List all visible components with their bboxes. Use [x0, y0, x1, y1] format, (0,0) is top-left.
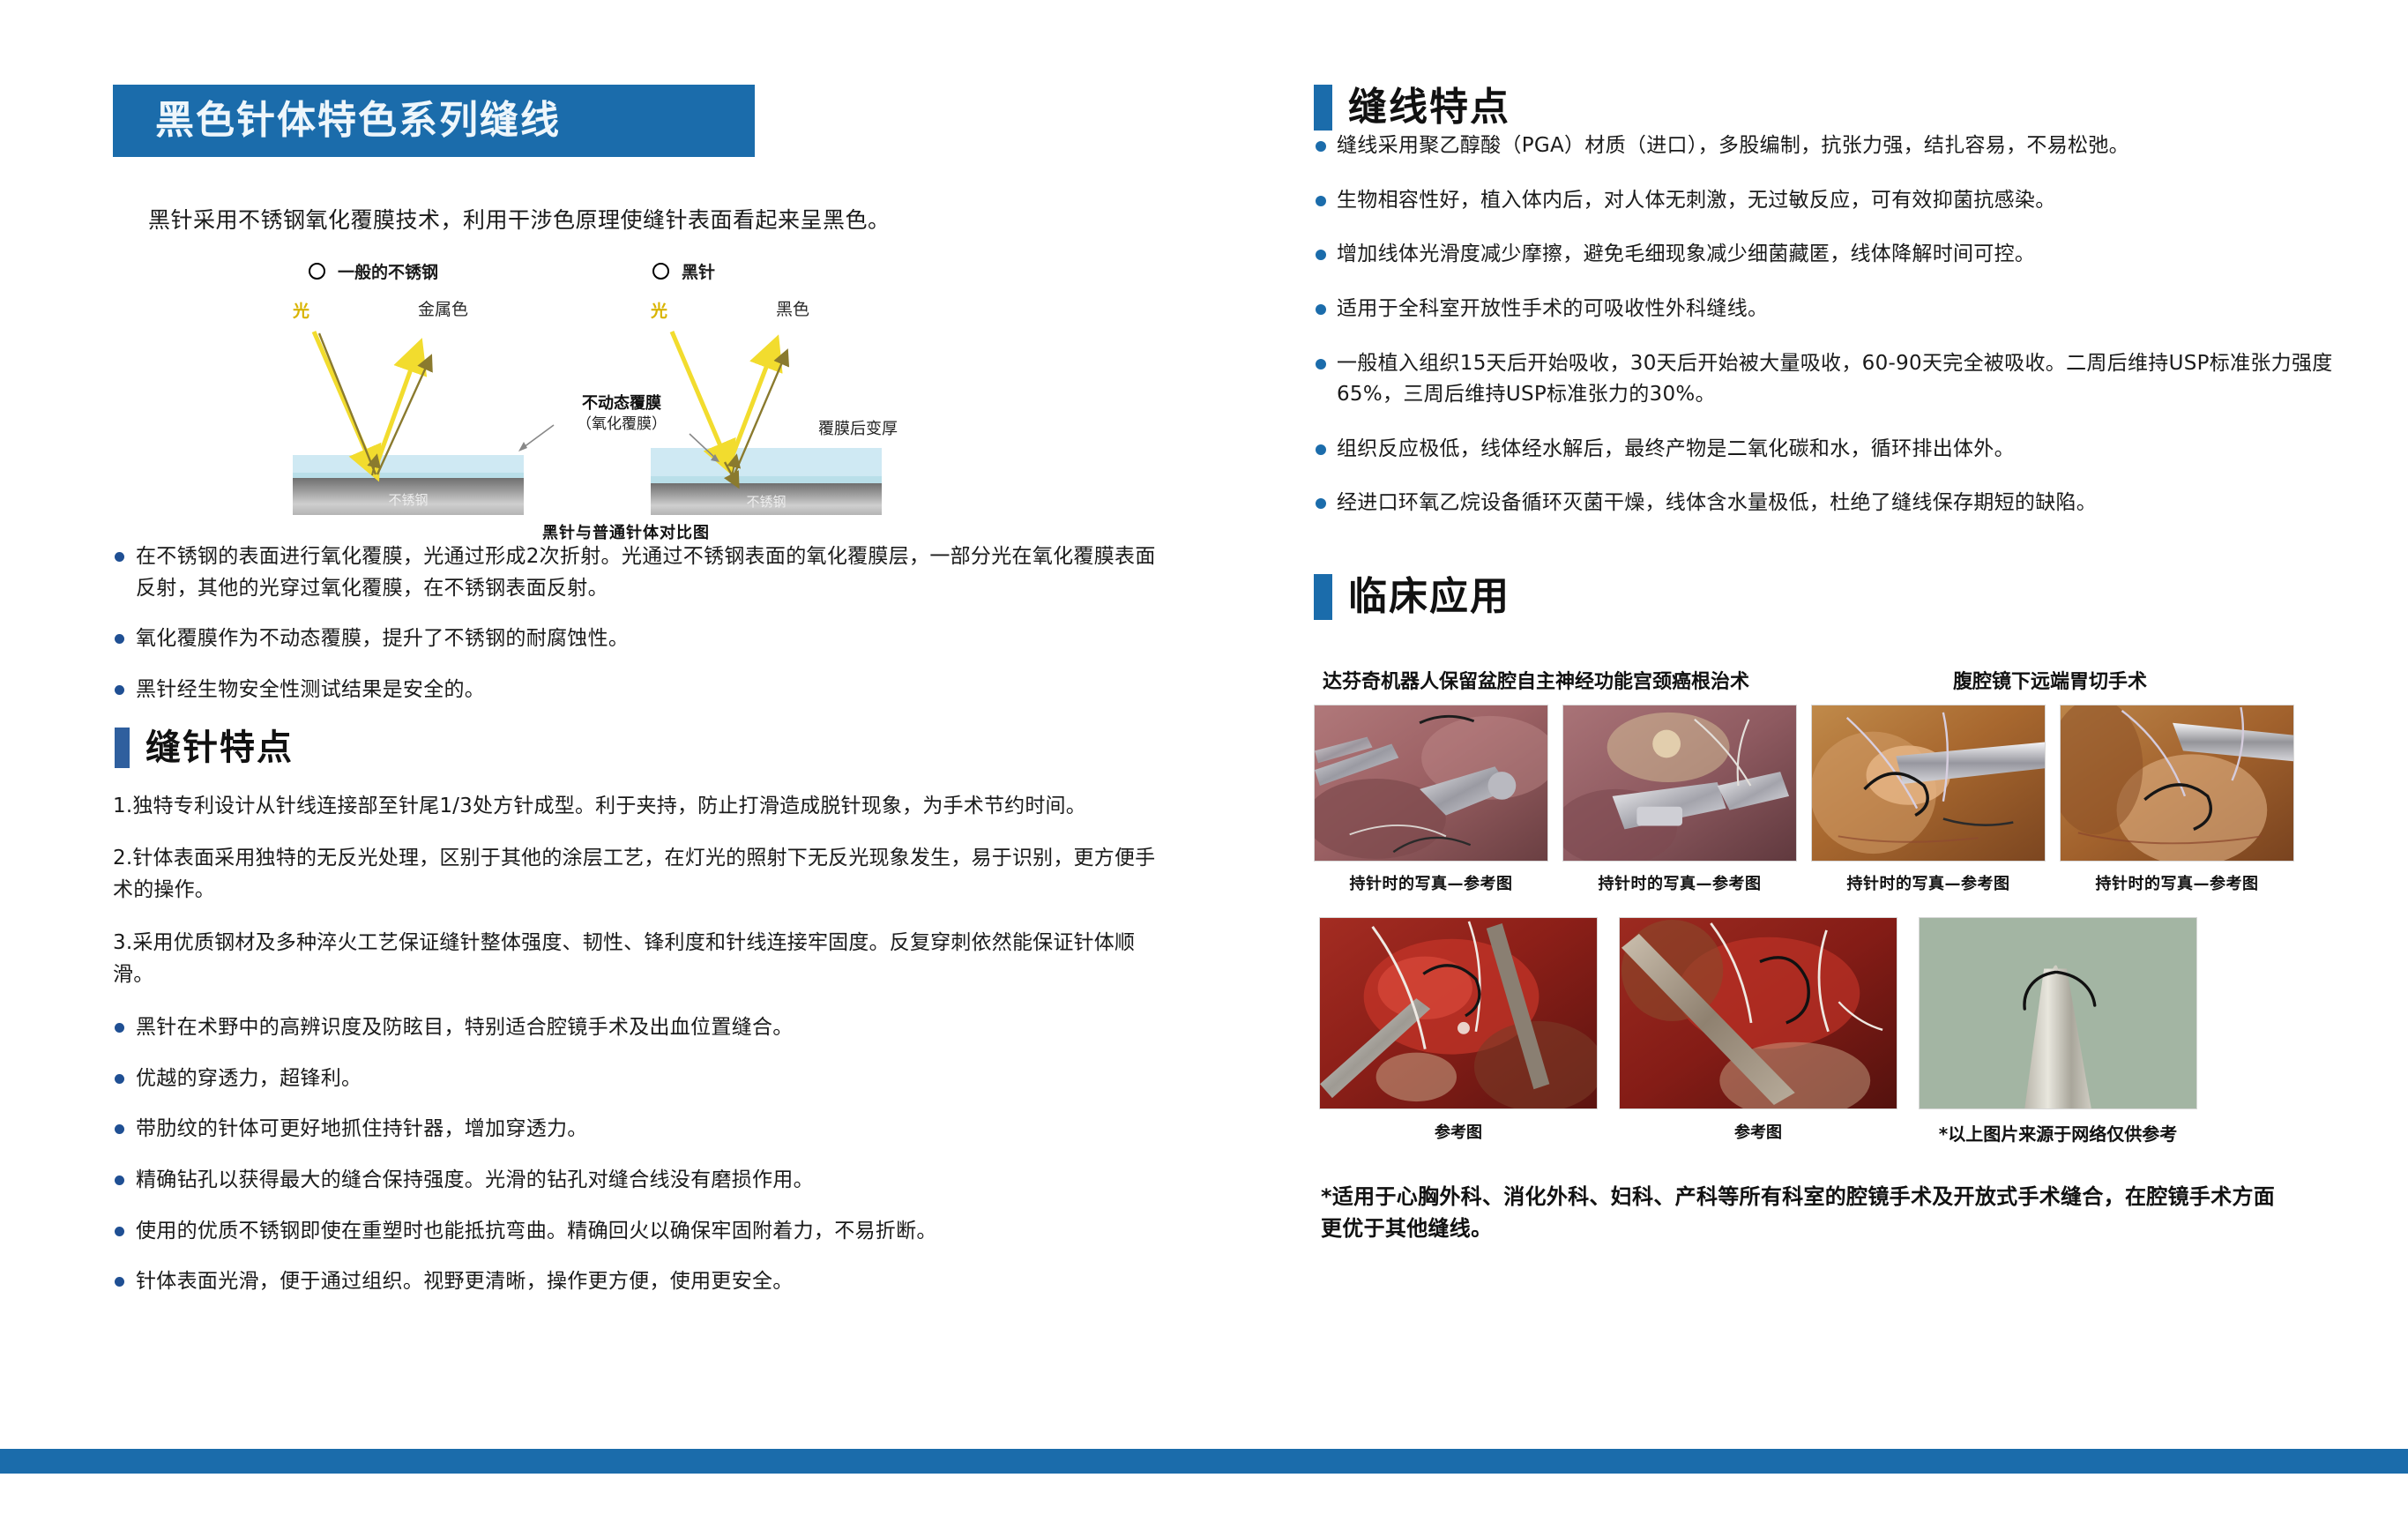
list-item: 增加线体光滑度减少摩擦，避免毛细现象减少细菌藏匿，线体降解时间可控。: [1314, 239, 2350, 271]
oxide-film-annotation-line2: （氧化覆膜）: [538, 414, 705, 435]
list-item: 带肋纹的针体可更好地抓住持针器，增加穿透力。: [113, 1114, 1167, 1146]
list-item: 黑针在术野中的高辨识度及防眩目，特别适合腔镜手术及出血位置缝合。: [113, 1012, 1167, 1044]
clinical-image-cell: 持针时的写真—参考图: [2060, 705, 2294, 894]
svg-text:不锈钢: 不锈钢: [388, 492, 428, 508]
diagram-caption: 黑针与普通针体对比图: [273, 520, 979, 543]
heading-accent-bar-icon: [115, 728, 130, 768]
surgery-photo-icon: [1620, 918, 1897, 1108]
plain-steel-illustration: 不锈钢: [284, 300, 548, 516]
clinical-image-cell: 参考图: [1319, 917, 1598, 1146]
image-caption: 持针时的写真—参考图: [1847, 871, 2010, 894]
clinical-subtitles: 达芬奇机器人保留盆腔自主神经功能宫颈癌根治术 腹腔镜下远端胃切手术: [1314, 666, 2354, 692]
suture-bullet-list: 缝线采用聚乙醇酸（PGA）材质（进口），多股编制，抗张力强，结扎容易，不易松弛。…: [1314, 131, 2350, 519]
surgery-photo-icon: [2061, 705, 2293, 861]
section-title-suture-features: 缝线特点: [1348, 88, 1510, 127]
legend-black-needle: 黑针: [652, 259, 715, 283]
svg-text:不锈钢: 不锈钢: [746, 494, 786, 510]
footer-accent-bar: [0, 1449, 2408, 1474]
surgery-photo-laparoscopic-2[interactable]: [2060, 705, 2294, 862]
list-item: 2.针体表面采用独特的无反光处理，区别于其他的涂层工艺，在灯光的照射下无反光现象…: [113, 843, 1167, 907]
list-item: 精确钻孔以获得最大的缝合保持强度。光滑的钻孔对缝合线没有磨损作用。: [113, 1165, 1167, 1197]
clinical-footnote: *适用于心胸外科、消化外科、妇科、产科等所有科室的腔镜手术及开放式手术缝合，在腔…: [1321, 1181, 2291, 1244]
legend-black-needle-label: 黑针: [682, 259, 715, 283]
oxide-film-annotation-line1: 不动态覆膜: [538, 393, 705, 414]
surgery-photo-robotic-pelvic[interactable]: [1314, 705, 1548, 862]
legend-plain-steel: 一般的不锈钢: [309, 259, 438, 283]
list-item: 在不锈钢的表面进行氧化覆膜，光通过形成2次折射。光通过不锈钢表面的氧化覆膜层，一…: [113, 541, 1167, 604]
heading-accent-bar-icon: [1314, 574, 1332, 620]
brochure-page: 黑色针体特色系列缝线 黑针采用不锈钢氧化覆膜技术，利用干涉色原理使缝针表面看起来…: [0, 0, 2408, 1515]
light-label-left: 光: [293, 298, 309, 322]
section-heading-needle-features: 缝针特点: [115, 728, 1171, 768]
clinical-image-row-2: 参考图: [1319, 917, 2354, 1146]
list-item: 组织反应极低，线体经水解后，最终产物是二氧化碳和水，循环排出体外。: [1314, 434, 2350, 466]
list-item: 1.独特专利设计从针线连接部至针尾1/3处方针成型。利于夹持，防止打滑造成脱针现…: [113, 791, 1167, 823]
light-label-right: 光: [651, 298, 667, 322]
clinical-image-cell: 持针时的写真—参考图: [1314, 705, 1548, 894]
surgery-photo-laparoscopic-1[interactable]: [1811, 705, 2046, 862]
circle-marker-icon: [652, 263, 669, 280]
main-title-banner: 黑色针体特色系列缝线: [113, 85, 755, 157]
needle-bullet-list: 黑针在术野中的高辨识度及防眩目，特别适合腔镜手术及出血位置缝合。 优越的穿透力，…: [113, 1012, 1167, 1298]
list-item: 一般植入组织15天后开始吸收，30天后开始被大量吸收，60-90天完全被吸收。二…: [1314, 348, 2350, 411]
page-title: 黑色针体特色系列缝线: [155, 101, 561, 140]
image-caption: 持针时的写真—参考图: [1350, 871, 1513, 894]
list-item: 黑针经生物安全性测试结果是安全的。: [113, 675, 1167, 706]
list-item: 针体表面光滑，便于通过组织。视野更清晰，操作更方便，使用更安全。: [113, 1266, 1167, 1298]
surgery-photo-icon: [1320, 918, 1597, 1108]
film-thicker-note: 覆膜后变厚: [818, 416, 898, 439]
surgery-photo-robotic-needle-driver[interactable]: [1562, 705, 1797, 862]
intro-paragraph: 黑针采用不锈钢氧化覆膜技术，利用干涉色原理使缝针表面看起来呈黑色。: [148, 203, 1171, 235]
list-item: 3.采用优质钢材及多种淬火工艺保证缝针整体强度、韧性、锋利度和针线连接牢固度。反…: [113, 928, 1167, 991]
list-item: 氧化覆膜作为不动态覆膜，提升了不锈钢的耐腐蚀性。: [113, 623, 1167, 655]
image-caption: 持针时的写真—参考图: [2096, 871, 2259, 894]
section-title-needle-features: 缝针特点: [145, 730, 294, 765]
list-item: 生物相容性好，植入体内后，对人体无刺激，无过敏反应，可有效抑菌抗感染。: [1314, 185, 2350, 217]
clinical-image-cell: 持针时的写真—参考图: [1562, 705, 1797, 894]
list-item: 缝线采用聚乙醇酸（PGA）材质（进口），多股编制，抗张力强，结扎容易，不易松弛。: [1314, 131, 2350, 162]
product-photo-black-needle-closeup[interactable]: [1919, 917, 2197, 1109]
clinical-subtitle-laparoscopic: 腹腔镜下远端胃切手术: [1953, 666, 2147, 694]
section-heading-suture-features: 缝线特点: [1314, 85, 2354, 131]
clinical-subtitle-robotic: 达芬奇机器人保留盆腔自主神经功能宫颈癌根治术: [1323, 666, 1749, 694]
surgery-photo-open-red-1[interactable]: [1319, 917, 1598, 1109]
annotation-leader-right-icon: [688, 432, 727, 467]
oxide-film-annotation: 不动态覆膜 （氧化覆膜）: [538, 393, 705, 435]
diagram-panel-plain-steel: 不锈钢 光 金属色: [284, 300, 548, 516]
surgery-photo-icon: [1315, 705, 1547, 861]
legend-plain-steel-label: 一般的不锈钢: [338, 259, 438, 283]
metal-color-label: 金属色: [418, 296, 468, 320]
image-caption: 参考图: [1734, 1120, 1782, 1143]
image-source-note: *以上图片来源于网络仅供参考: [1939, 1120, 2177, 1146]
image-caption: 持针时的写真—参考图: [1599, 871, 1762, 894]
right-column: 缝线特点 缝线采用聚乙醇酸（PGA）材质（进口），多股编制，抗张力强，结扎容易，…: [1314, 85, 2354, 1244]
oxide-film-comparison-diagram: 一般的不锈钢 黑针: [273, 259, 979, 541]
left-column: 黑色针体特色系列缝线 黑针采用不锈钢氧化覆膜技术，利用干涉色原理使缝针表面看起来…: [113, 85, 1171, 1317]
section-heading-clinical: 临床应用: [1314, 574, 2354, 620]
black-color-label: 黑色: [776, 296, 809, 320]
needle-closeup-icon: [1920, 918, 2196, 1108]
oxide-film-bullet-list: 在不锈钢的表面进行氧化覆膜，光通过形成2次折射。光通过不锈钢表面的氧化覆膜层，一…: [113, 541, 1167, 706]
annotation-leader-left-icon: [517, 423, 555, 453]
surgery-photo-open-red-2[interactable]: [1619, 917, 1897, 1109]
circle-marker-icon: [309, 263, 325, 280]
list-item: 经进口环氧乙烷设备循环灭菌干燥，线体含水量极低，杜绝了缝线保存期短的缺陷。: [1314, 488, 2350, 519]
clinical-image-row-1: 持针时的写真—参考图: [1314, 705, 2354, 894]
surgery-photo-icon: [1563, 705, 1796, 861]
heading-accent-bar-icon: [1314, 85, 1332, 131]
surgery-photo-icon: [1812, 705, 2045, 861]
image-caption: 参考图: [1435, 1120, 1482, 1143]
section-title-clinical: 临床应用: [1348, 578, 1510, 616]
list-item: 适用于全科室开放性手术的可吸收性外科缝线。: [1314, 294, 2350, 325]
clinical-image-cell: *以上图片来源于网络仅供参考: [1919, 917, 2197, 1146]
list-item: 优越的穿透力，超锋利。: [113, 1063, 1167, 1095]
clinical-image-cell: 持针时的写真—参考图: [1811, 705, 2046, 894]
list-item: 使用的优质不锈钢即使在重塑时也能抵抗弯曲。精确回火以确保牢固附着力，不易折断。: [113, 1216, 1167, 1248]
needle-numbered-list: 1.独特专利设计从针线连接部至针尾1/3处方针成型。利于夹持，防止打滑造成脱针现…: [113, 791, 1167, 991]
clinical-image-cell: 参考图: [1619, 917, 1897, 1146]
